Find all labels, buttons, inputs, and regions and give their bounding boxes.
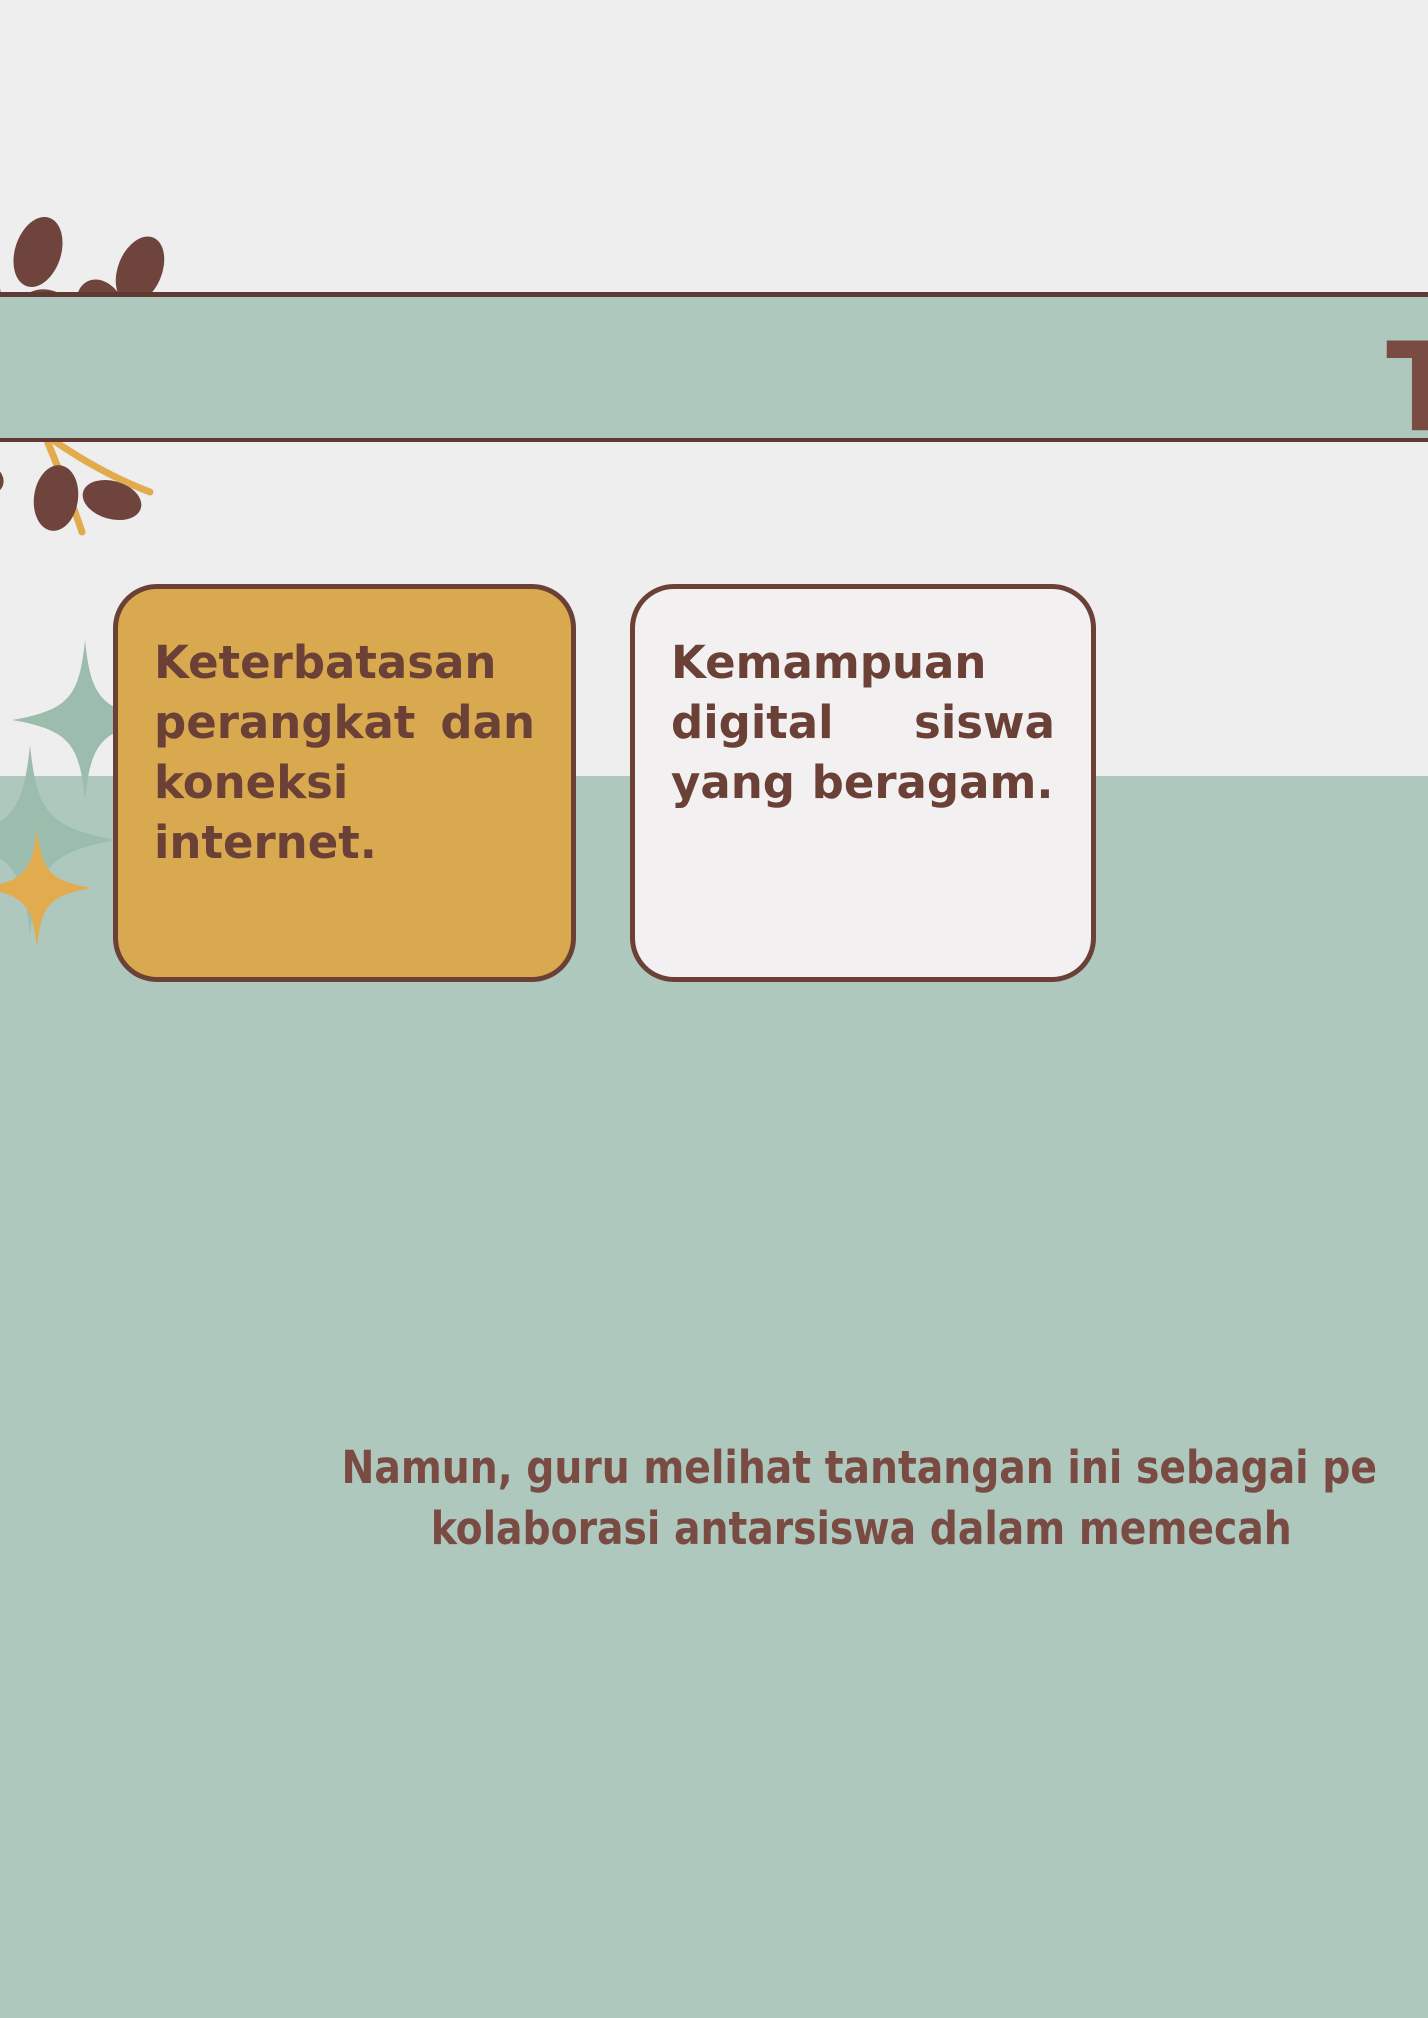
card-device-limitation[interactable]: Keterbatasan perangkat dan koneksi inter…: [113, 584, 576, 982]
bottom-note: Namun, guru melihat tantangan ini sebaga…: [0, 1438, 1428, 1560]
card-digital-skill[interactable]: Kemampuan digital siswa yang beragam.: [630, 584, 1096, 982]
card-device-limitation-text: Keterbatasan perangkat dan koneksi inter…: [154, 633, 535, 872]
background-bottom: [0, 1486, 1428, 2018]
page-title-text: TANTA: [1386, 327, 1428, 450]
bottom-note-line-2: kolaborasi antarsiswa dalam memecah: [344, 1499, 1380, 1560]
card-digital-skill-text: Kemampuan digital siswa yang beragam.: [671, 633, 1055, 813]
challenge-cards: Keterbatasan perangkat dan koneksi inter…: [0, 580, 1428, 990]
page-title: TANTA: [0, 297, 1428, 447]
header-band: TANTA: [0, 292, 1428, 442]
bottom-note-text: Namun, guru melihat tantangan ini sebaga…: [196, 1438, 1232, 1560]
poster-canvas: TANTA Keterbatasan perangkat dan koneksi…: [0, 0, 1428, 2018]
bottom-note-line-1: Namun, guru melihat tantangan ini sebaga…: [342, 1438, 1378, 1499]
